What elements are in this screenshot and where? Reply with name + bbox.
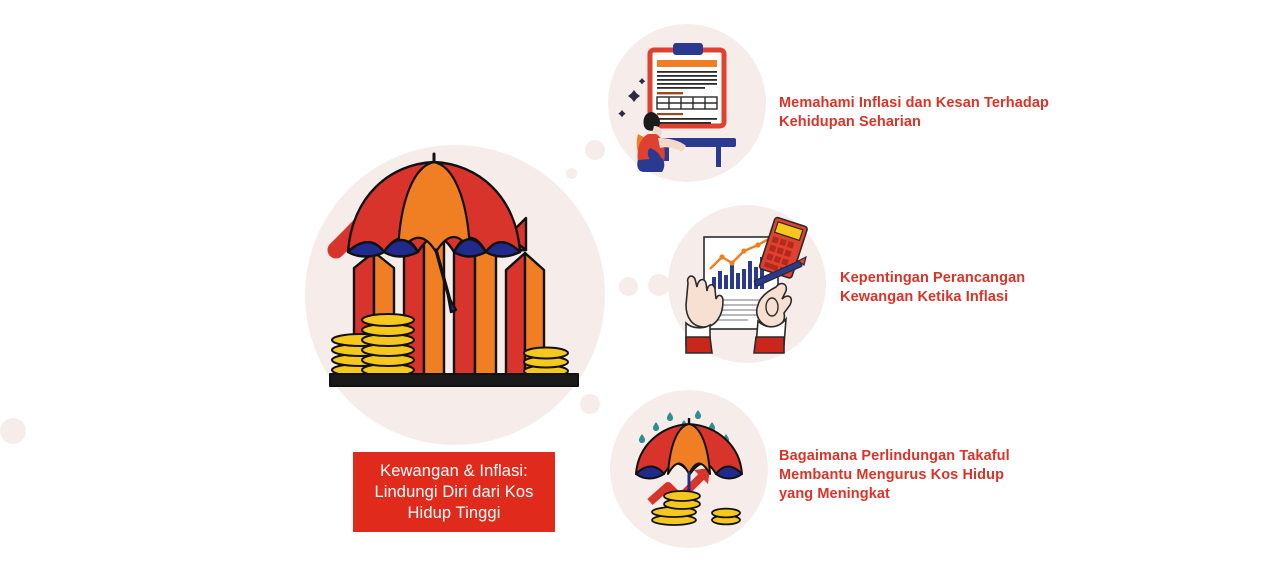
connector-dot xyxy=(585,140,605,160)
item-3-label-line-1: Bagaimana Perlindungan Takaful xyxy=(779,447,1039,466)
title-text: Kewangan & Inflasi: Lindungi Diri dari K… xyxy=(368,461,539,524)
clipboard xyxy=(650,43,724,126)
connector-dot xyxy=(648,274,670,296)
coin-stacks xyxy=(652,491,740,525)
connector-dot xyxy=(0,418,26,444)
item-1-label-line-2: Kehidupan Seharian xyxy=(779,113,1079,132)
base-bar xyxy=(330,374,578,386)
item-2-label: Kepentingan Perancangan Kewangan Ketika … xyxy=(840,269,1080,307)
person-at-desk-reading-document-icon xyxy=(620,38,754,172)
item-1-label: Memahami Inflasi dan Kesan Terhadap Kehi… xyxy=(779,94,1079,132)
title-line-2: Lindungi Diri dari Kos xyxy=(374,482,533,503)
item-3-label-line-3: yang Meningkat xyxy=(779,485,1039,504)
hands-with-calculator-and-chart-icon xyxy=(680,215,818,353)
coin-stack-left xyxy=(332,314,414,376)
title-box: Kewangan & Inflasi: Lindungi Diri dari K… xyxy=(353,452,555,532)
item-2-label-line-2: Kewangan Ketika Inflasi xyxy=(840,288,1080,307)
infographic-canvas: Kewangan & Inflasi: Lindungi Diri dari K… xyxy=(0,0,1263,579)
main-illustration xyxy=(330,160,580,395)
item-3-label: Bagaimana Perlindungan Takaful Membantu … xyxy=(779,447,1039,504)
sparkle xyxy=(618,78,645,117)
title-line-3: Hidup Tinggi xyxy=(374,503,533,524)
title-line-1: Kewangan & Inflasi: xyxy=(374,461,533,482)
item-1-label-line-1: Memahami Inflasi dan Kesan Terhadap xyxy=(779,94,1079,113)
item-2-label-line-1: Kepentingan Perancangan xyxy=(840,269,1080,288)
umbrella-shielding-coins-from-rain-icon xyxy=(628,404,752,528)
connector-dot xyxy=(619,277,638,296)
item-3-label-line-2: Membantu Mengurus Kos Hidup xyxy=(779,466,1039,485)
coin-stack-right xyxy=(524,348,568,377)
connector-dot xyxy=(580,394,600,414)
